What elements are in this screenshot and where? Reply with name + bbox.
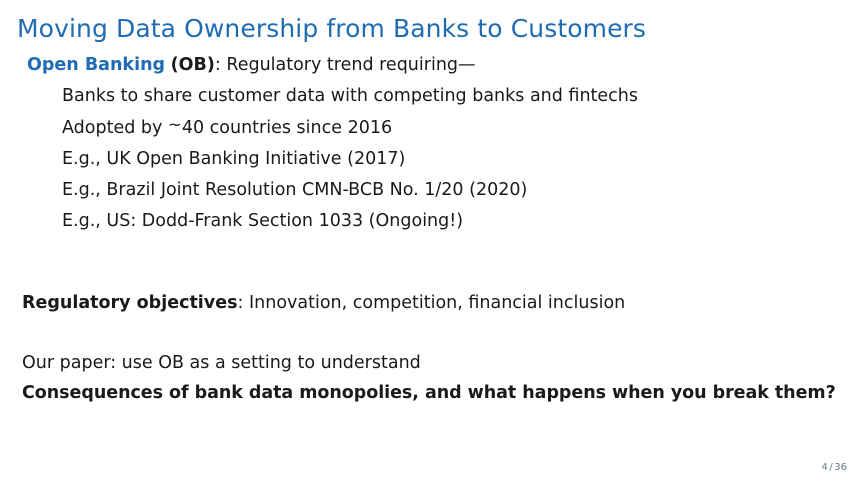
regulatory-objectives-label: Regulatory objectives bbox=[22, 293, 238, 313]
bullet-lead-rest: : Regulatory trend requiring— bbox=[215, 55, 476, 75]
sub-bullet-us-example: E.g., US: Dodd-Frank Section 1033 (Ongoi… bbox=[62, 211, 860, 232]
our-paper-line: Our paper: use OB as a setting to unders… bbox=[22, 353, 421, 374]
page-number-current: 4 bbox=[822, 462, 828, 473]
sub-bullet-adoption: Adopted by ∼40 countries since 2016 bbox=[62, 117, 860, 139]
sub-bullet-label: E.g., UK Open Banking Initiative (2017) bbox=[62, 149, 405, 169]
open-banking-abbrev: (OB) bbox=[171, 55, 215, 75]
sub-bullet-brazil-example: E.g., Brazil Joint Resolution CMN-BCB No… bbox=[62, 180, 860, 201]
bullet-lead-line: Open Banking (OB): Regulatory trend requ… bbox=[27, 55, 860, 76]
presentation-slide: Moving Data Ownership from Banks to Cust… bbox=[0, 0, 860, 482]
slide-body: Open Banking (OB): Regulatory trend requ… bbox=[0, 55, 860, 232]
approx-tilde-symbol: ∼ bbox=[168, 115, 182, 134]
sub-bullet-banks-share: Banks to share customer data with compet… bbox=[62, 86, 860, 107]
page-number: 4/36 bbox=[822, 462, 847, 474]
regulatory-objectives-rest: : Innovation, competition, financial inc… bbox=[238, 293, 626, 313]
sub-bullet-label: E.g., Brazil Joint Resolution CMN-BCB No… bbox=[62, 180, 527, 200]
research-question-line: Consequences of bank data monopolies, an… bbox=[22, 383, 836, 404]
regulatory-objectives-line: Regulatory objectives: Innovation, compe… bbox=[22, 293, 625, 314]
sub-bullet-uk-example: E.g., UK Open Banking Initiative (2017) bbox=[62, 149, 860, 170]
sub-bullet-label: E.g., US: Dodd-Frank Section 1033 (Ongoi… bbox=[62, 211, 463, 231]
page-number-total: 36 bbox=[834, 462, 847, 473]
sub-bullet-label-after: 40 countries since 2016 bbox=[182, 118, 392, 138]
sub-bullet-label-before: Adopted by bbox=[62, 118, 168, 138]
open-banking-keyword: Open Banking bbox=[27, 55, 165, 75]
sub-bullet-label: Banks to share customer data with compet… bbox=[62, 86, 638, 106]
slide-title: Moving Data Ownership from Banks to Cust… bbox=[17, 14, 646, 44]
